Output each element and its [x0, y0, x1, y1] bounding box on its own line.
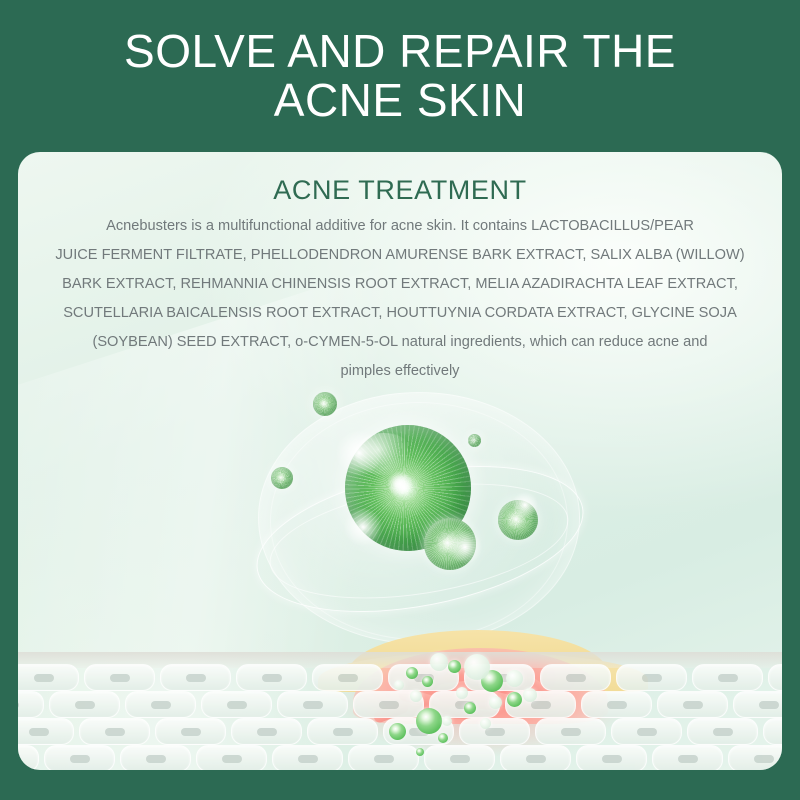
skin-cell — [733, 691, 782, 718]
core-gloss-highlight — [355, 433, 413, 476]
skin-cell — [307, 718, 378, 745]
skin-cell — [201, 691, 272, 718]
skin-cell — [657, 691, 728, 718]
skin-cell-row — [18, 691, 782, 718]
body-line: JUICE FERMENT FILTRATE, PHELLODENDRON AM… — [42, 241, 758, 270]
skin-cell — [125, 691, 196, 718]
body-line: BARK EXTRACT, REHMANNIA CHINENSIS ROOT E… — [42, 270, 758, 299]
skin-cell — [236, 664, 307, 691]
active-ingredient-droplet — [464, 702, 476, 714]
skin-cell — [652, 745, 723, 770]
sebum-droplet — [506, 670, 523, 687]
sebum-droplet — [456, 687, 468, 699]
skin-cell — [18, 718, 74, 745]
skin-cell — [768, 664, 782, 691]
skin-cell — [424, 745, 495, 770]
skin-cell — [728, 745, 782, 770]
skin-cell — [616, 664, 687, 691]
sebum-droplet — [442, 716, 452, 726]
sebum-droplet — [489, 696, 502, 709]
sebum-droplet — [410, 690, 422, 702]
active-ingredient-droplet — [416, 748, 424, 756]
skin-cell — [196, 745, 267, 770]
active-ingredient-droplet — [416, 708, 442, 734]
skin-cell — [79, 718, 150, 745]
skin-cell — [272, 745, 343, 770]
skin-cell — [576, 745, 647, 770]
active-ingredient-droplet — [422, 676, 433, 687]
active-ingredient-droplet — [406, 667, 418, 679]
orbit-sphere-tiny-right — [468, 434, 481, 447]
content-card: ACNE TREATMENT Acnebusters is a multifun… — [18, 152, 782, 770]
skin-cell — [581, 691, 652, 718]
skin-cell — [120, 745, 191, 770]
orbit-sphere-small-lower-left — [271, 467, 293, 489]
body-line: pimples effectively — [42, 357, 758, 386]
skin-cell — [459, 718, 530, 745]
skin-cell — [312, 664, 383, 691]
card-text-block: ACNE TREATMENT Acnebusters is a multifun… — [18, 152, 782, 386]
skin-cell — [155, 718, 226, 745]
active-ingredient-droplet — [389, 723, 406, 740]
skin-cell — [540, 664, 611, 691]
skin-cell — [500, 745, 571, 770]
skin-cell — [160, 664, 231, 691]
skin-cross-section-illustration — [18, 630, 782, 770]
active-ingredient-droplet — [507, 692, 522, 707]
poster-page: SOLVE AND REPAIR THE ACNE SKIN — [0, 0, 800, 800]
orbit-sphere-small-left — [313, 392, 337, 416]
body-line: SCUTELLARIA BAICALENSIS ROOT EXTRACT, HO… — [42, 299, 758, 328]
skin-cell — [18, 691, 44, 718]
card-title: ACNE TREATMENT — [18, 174, 782, 206]
sebum-droplet — [430, 653, 448, 671]
orbit-sphere-medium-bottom — [424, 518, 476, 570]
header-title-line-1: SOLVE AND REPAIR THE — [124, 27, 676, 76]
skin-cell — [535, 718, 606, 745]
header-title-line-2: ACNE SKIN — [274, 76, 526, 125]
skin-cell — [84, 664, 155, 691]
skin-cell — [231, 718, 302, 745]
skin-cell — [687, 718, 758, 745]
skin-cell — [49, 691, 120, 718]
skin-cell-row — [18, 745, 782, 770]
active-ingredient-droplet — [448, 660, 461, 673]
skin-cell — [611, 718, 682, 745]
skin-cell — [44, 745, 115, 770]
skin-cell — [348, 745, 419, 770]
body-line: (SOYBEAN) SEED EXTRACT, o-CYMEN-5-OL nat… — [42, 328, 758, 357]
skin-cell — [692, 664, 763, 691]
card-body: Acnebusters is a multifunctional additiv… — [18, 212, 782, 386]
skin-cell — [18, 745, 39, 770]
skin-cell — [763, 718, 782, 745]
skin-cell — [277, 691, 348, 718]
sebum-droplet — [523, 688, 537, 702]
sebum-droplet — [394, 680, 404, 690]
sebum-droplet — [464, 654, 490, 680]
active-ingredient-droplet — [438, 733, 448, 743]
orbit-sphere-medium-right — [498, 500, 538, 540]
poster-header: SOLVE AND REPAIR THE ACNE SKIN — [0, 0, 800, 152]
skin-cell — [18, 664, 79, 691]
body-line: Acnebusters is a multifunctional additiv… — [42, 212, 758, 241]
sebum-droplet — [480, 718, 491, 729]
